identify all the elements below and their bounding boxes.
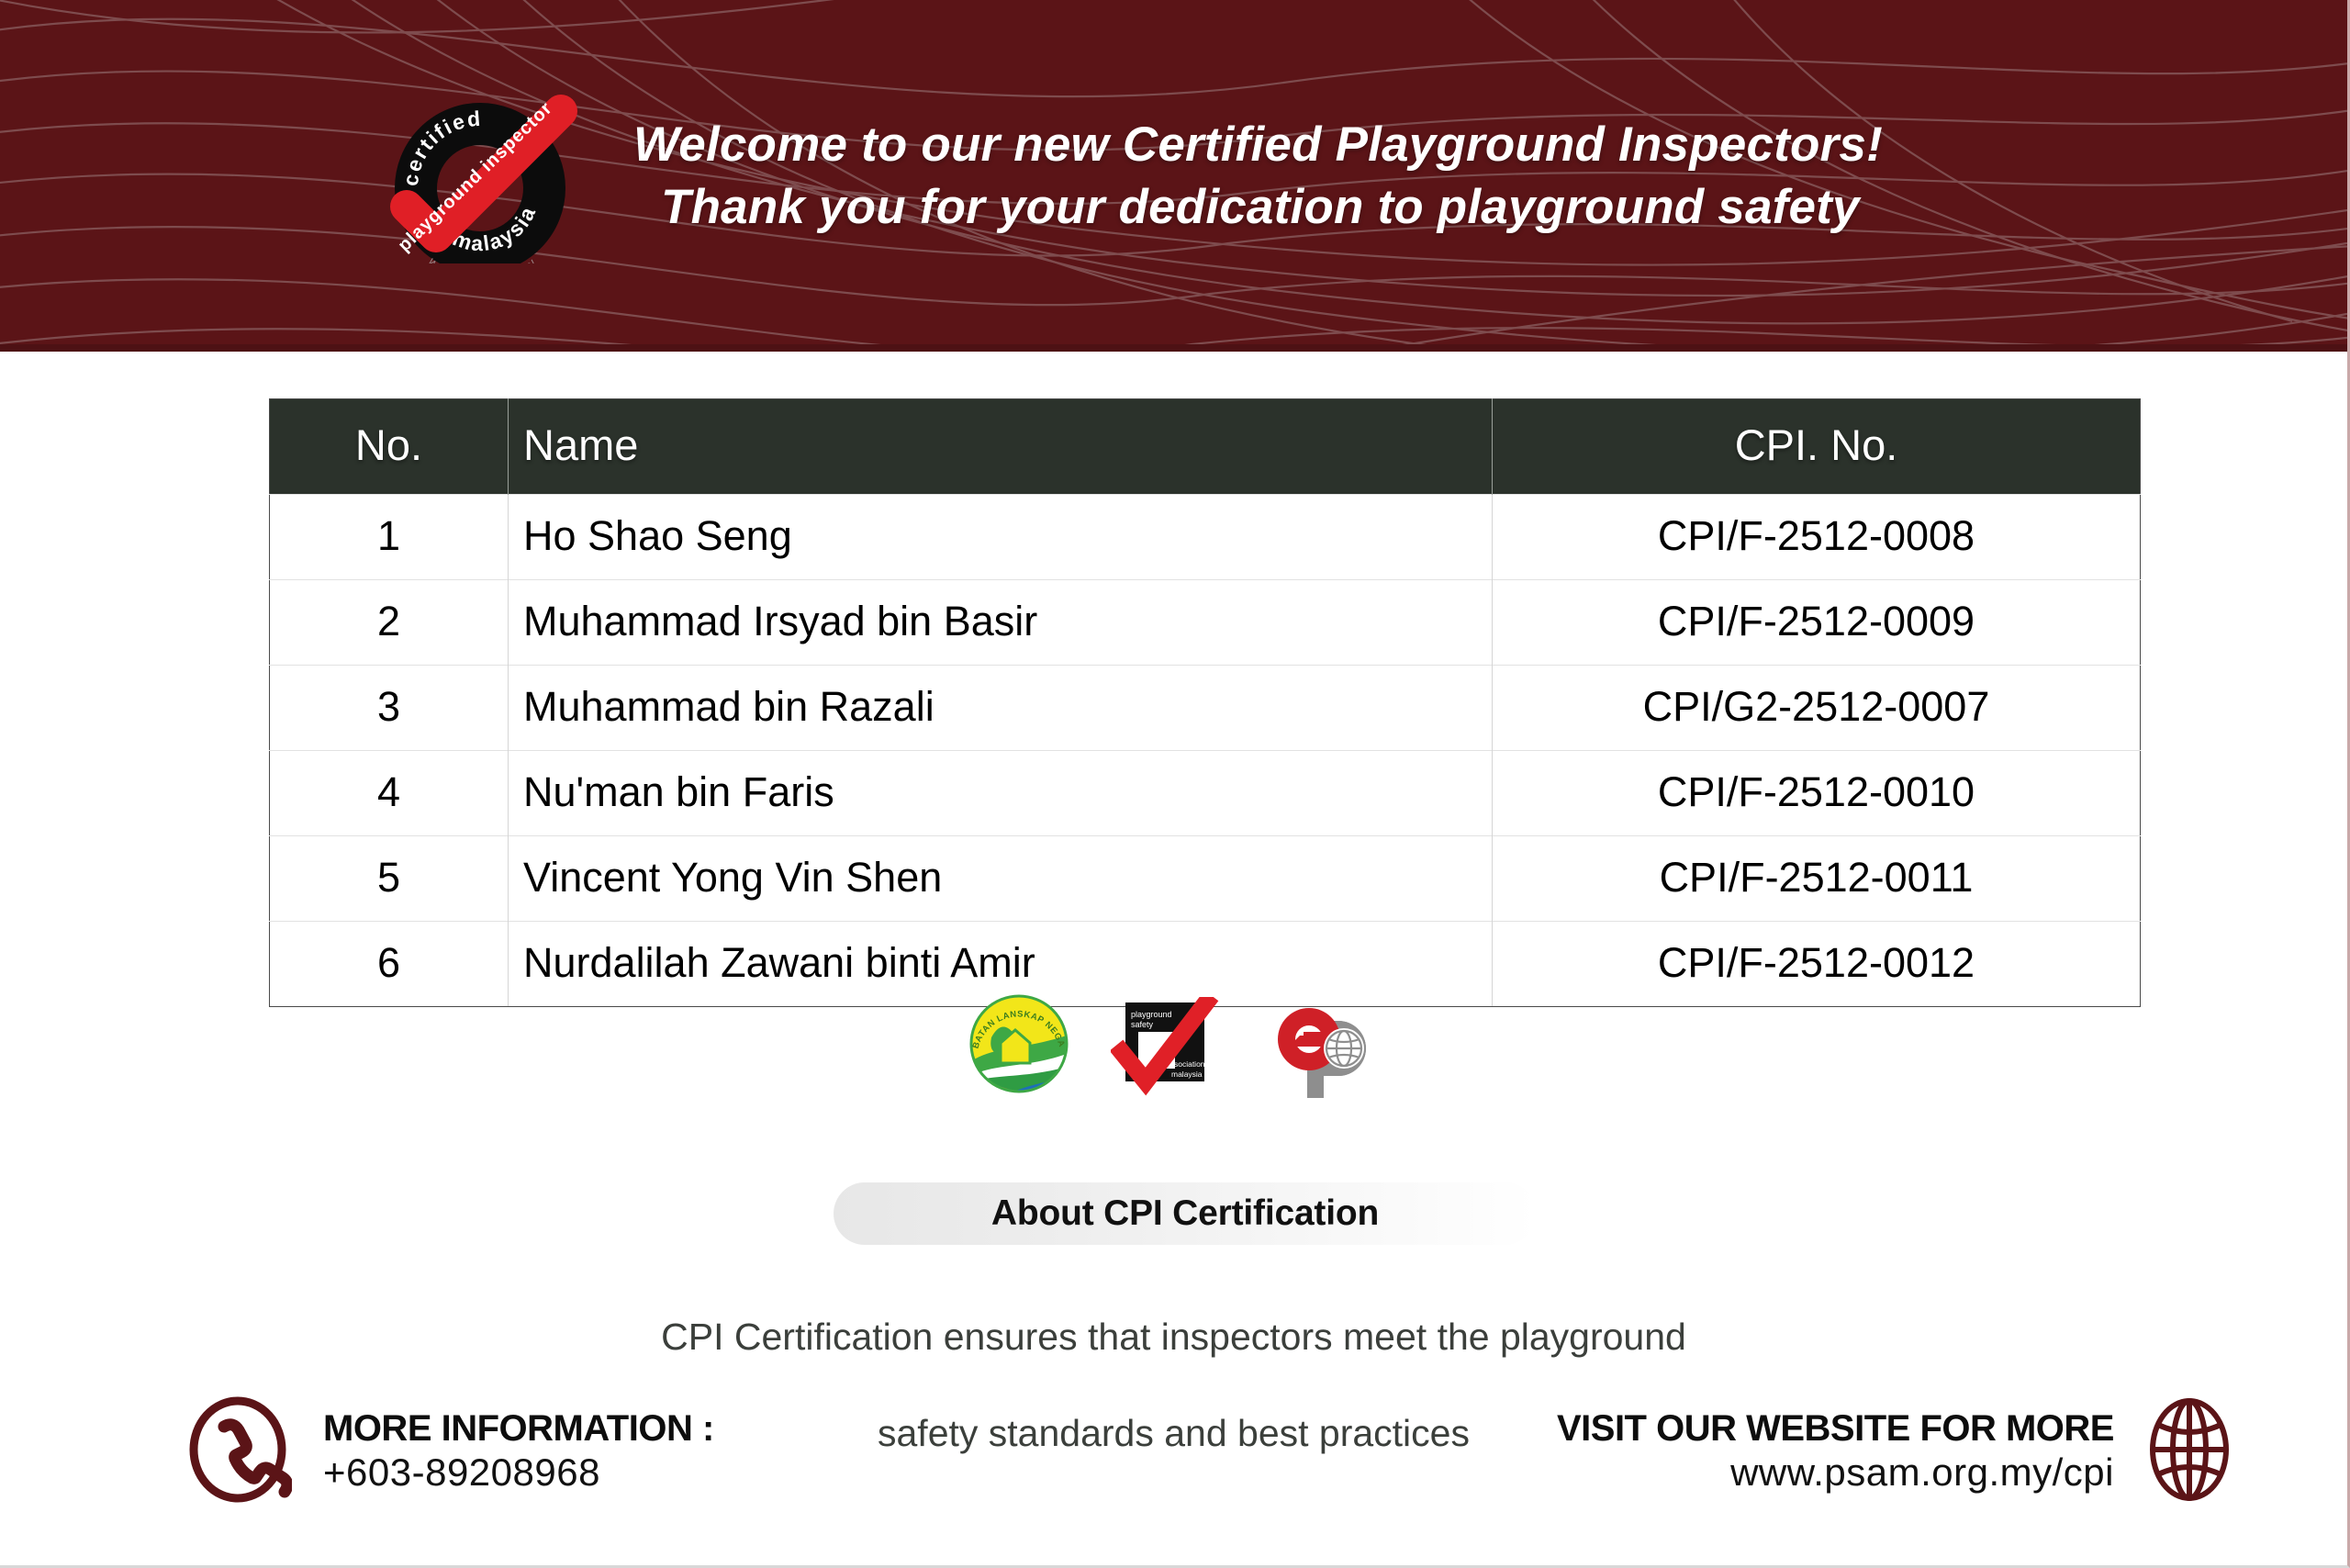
svg-text:malaysia: malaysia [1171,1070,1203,1079]
headline-line-2: Thank you for your dedication to playgro… [633,176,1883,239]
phone-icon [184,1395,292,1508]
cell-cpi-no: CPI/F-2512-0009 [1493,580,2141,666]
table-row: 5 Vincent Yong Vin Shen CPI/F-2512-0011 [270,836,2141,922]
playground-safety-association-malaysia-logo: playground safety association malaysia [1111,997,1219,1103]
cell-name: Muhammad Irsyad bin Basir [509,580,1493,666]
table-body: 1 Ho Shao Seng CPI/F-2512-0008 2 Muhamma… [270,495,2141,1007]
partner-logos-row: JABATAN LANSKAP NEGARA playground safety… [0,990,2347,1103]
website-url[interactable]: www.psam.org.my/cpi [1557,1450,2114,1495]
globe-icon [2140,1395,2239,1508]
about-description-line-2: safety standards and best practices [878,1412,1470,1454]
about-pill-label: About CPI Certification [991,1193,1379,1234]
cell-name: Muhammad bin Razali [509,666,1493,751]
headline-line-1: Welcome to our new Certified Playground … [633,118,1883,172]
ep-globe-logo [1256,995,1384,1103]
inspectors-table-container: No. Name CPI. No. 1 Ho Shao Seng CPI/F-2… [269,398,2140,1007]
about-cpi-certification-pill[interactable]: About CPI Certification [834,1182,1537,1245]
inspectors-table: No. Name CPI. No. 1 Ho Shao Seng CPI/F-2… [269,398,2141,1007]
cpi-malaysia-badge-logo: certified malaysia playground inspector … [381,89,578,263]
jabatan-lanskap-negara-logo: JABATAN LANSKAP NEGARA [964,990,1074,1103]
cell-no: 2 [270,580,509,666]
table-row: 3 Muhammad bin Razali CPI/G2-2512-0007 [270,666,2141,751]
footer-website: VISIT OUR WEBSITE FOR MORE www.psam.org.… [1557,1395,2239,1508]
phone-number[interactable]: +603-89208968 [323,1450,714,1495]
table-row: 1 Ho Shao Seng CPI/F-2512-0008 [270,495,2141,580]
table-row: 4 Nu'man bin Faris CPI/F-2512-0010 [270,751,2141,836]
cell-no: 3 [270,666,509,751]
footer-contact-phone: MORE INFORMATION : +603-89208968 [184,1395,714,1508]
column-header-name: Name [509,399,1493,495]
column-header-cpi-no: CPI. No. [1493,399,2141,495]
cell-no: 5 [270,836,509,922]
table-row: 2 Muhammad Irsyad bin Basir CPI/F-2512-0… [270,580,2141,666]
cell-no: 1 [270,495,509,580]
cell-no: 4 [270,751,509,836]
svg-text:safety: safety [1131,1020,1154,1029]
certificate-announcement-poster: certified malaysia playground inspector … [0,0,2350,1568]
cell-name: Vincent Yong Vin Shen [509,836,1493,922]
cell-cpi-no: CPI/G2-2512-0007 [1493,666,2141,751]
cell-cpi-no: CPI/F-2512-0008 [1493,495,2141,580]
about-description-line-1: CPI Certification ensures that inspector… [661,1316,1686,1358]
table-head: No. Name CPI. No. [270,399,2141,495]
cell-cpi-no: CPI/F-2512-0010 [1493,751,2141,836]
cell-name: Nu'man bin Faris [509,751,1493,836]
banner-headline: Welcome to our new Certified Playground … [633,51,1883,300]
column-header-no: No. [270,399,509,495]
cell-name: Ho Shao Seng [509,495,1493,580]
table-header-row: No. Name CPI. No. [270,399,2141,495]
header-banner: certified malaysia playground inspector … [0,0,2347,352]
cell-cpi-no: CPI/F-2512-0011 [1493,836,2141,922]
more-information-title: MORE INFORMATION : [323,1408,714,1450]
svg-text:playground: playground [1131,1010,1172,1019]
visit-website-title: VISIT OUR WEBSITE FOR MORE [1557,1408,2114,1450]
